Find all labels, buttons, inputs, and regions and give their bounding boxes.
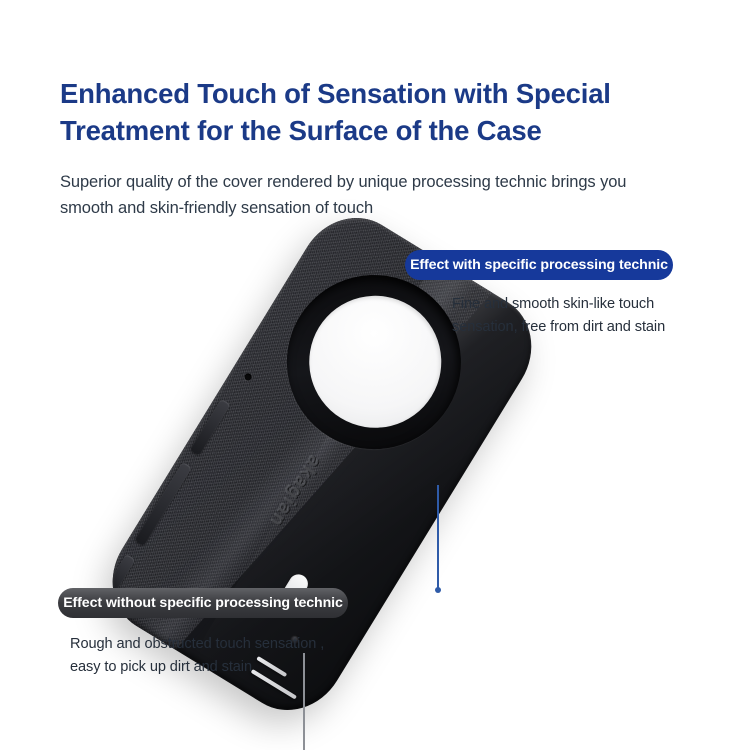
negative-callout-badge: Effect without specific processing techn… — [58, 588, 348, 618]
negative-callout-description: Rough and obstructed touch sensation , e… — [70, 633, 340, 680]
page-title: Enhanced Touch of Sensation with Special… — [60, 76, 680, 149]
positive-callout-badge: Effect with specific processing technic — [405, 250, 673, 280]
page-title-line-1: Enhanced Touch of Sensation with Special — [60, 78, 611, 109]
negative-callout-line-2: easy to pick up dirt and stain — [70, 656, 340, 679]
positive-callout-badge-label: Effect with specific processing technic — [410, 257, 668, 273]
negative-callout-line-1: Rough and obstructed touch sensation , — [70, 636, 324, 652]
product-feature-page: Enhanced Touch of Sensation with Special… — [0, 0, 750, 750]
page-title-line-2: Treatment for the Surface of the Case — [60, 113, 680, 150]
positive-callout-line-2: sensation, free from dirt and stain — [452, 316, 682, 339]
negative-callout-badge-label: Effect without specific processing techn… — [63, 595, 343, 611]
positive-callout-leader-line — [437, 485, 439, 589]
positive-callout-description: Fine and smooth skin-like touch sensatio… — [452, 293, 682, 340]
page-subtitle-line-1: Superior quality of the cover rendered b… — [60, 173, 626, 191]
positive-callout-line-1: Fine and smooth skin-like touch — [452, 296, 654, 312]
